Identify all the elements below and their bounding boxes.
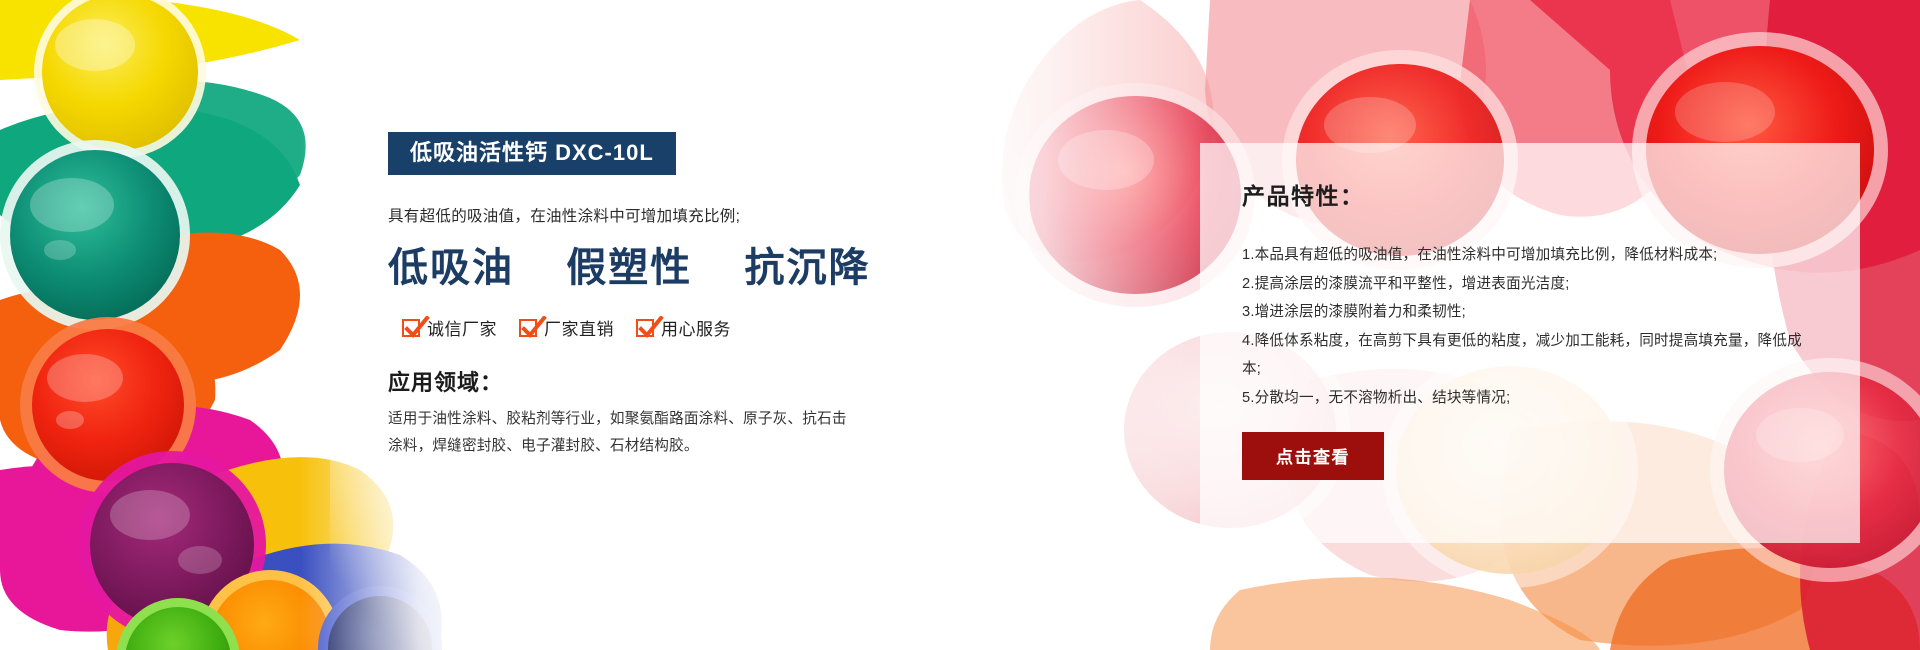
application-heading: 应用领域： — [388, 365, 988, 397]
panel-title: 产品特性： — [1242, 177, 1820, 211]
checkbox-check-icon — [519, 319, 537, 337]
headline-word-2: 假塑性 — [566, 246, 692, 290]
checkbox-check-icon — [636, 319, 654, 337]
product-features-panel: 产品特性： 1.本品具有超低的吸油值，在油性涂料中可增加填充比例，降低材料成本;… — [1200, 143, 1860, 543]
panel-list-item: 4.降低体系粘度，在高剪下具有更低的粘度，减少加工能耗，同时提高填充量，降低成本… — [1242, 327, 1820, 384]
product-headline: 低吸油 假塑性 抗沉降 — [388, 245, 988, 292]
feature-badge[interactable]: 用心服务 — [636, 315, 731, 340]
panel-list-item: 1.本品具有超低的吸油值，在油性涂料中可增加填充比例，降低材料成本; — [1242, 241, 1820, 270]
left-content-column: 低吸油活性钙 DXC-10L 具有超低的吸油值，在油性涂料中可增加填充比例; 低… — [388, 132, 988, 459]
application-body: 适用于油性涂料、胶粘剂等行业，如聚氨酯路面涂料、原子灰、抗石击涂料，焊缝密封胶、… — [388, 406, 858, 459]
feature-label: 诚信厂家 — [427, 315, 497, 340]
panel-list-item: 2.提高涂层的漆膜流平和平整性，增进表面光洁度; — [1242, 270, 1820, 299]
feature-badge[interactable]: 厂家直销 — [519, 315, 614, 340]
checkbox-check-icon — [402, 319, 420, 337]
feature-label: 厂家直销 — [544, 315, 614, 340]
headline-word-1: 低吸油 — [388, 246, 514, 290]
panel-list-item: 3.增进涂层的漆膜附着力和柔韧性; — [1242, 298, 1820, 327]
view-details-button[interactable]: 点击查看 — [1242, 432, 1384, 480]
feature-badges-row: 诚信厂家 厂家直销 用心服务 — [388, 315, 988, 340]
panel-feature-list: 1.本品具有超低的吸油值，在油性涂料中可增加填充比例，降低材料成本; 2.提高涂… — [1242, 241, 1820, 413]
product-subtitle: 具有超低的吸油值，在油性涂料中可增加填充比例; — [388, 206, 988, 228]
panel-list-item: 5.分散均一，无不溶物析出、结块等情况; — [1242, 384, 1820, 413]
product-title-badge: 低吸油活性钙 DXC-10L — [388, 132, 676, 175]
headline-word-3: 抗沉降 — [745, 246, 871, 290]
feature-badge[interactable]: 诚信厂家 — [402, 315, 497, 340]
promo-banner: 低吸油活性钙 DXC-10L 具有超低的吸油值，在油性涂料中可增加填充比例; 低… — [0, 0, 1920, 650]
feature-label: 用心服务 — [661, 315, 731, 340]
